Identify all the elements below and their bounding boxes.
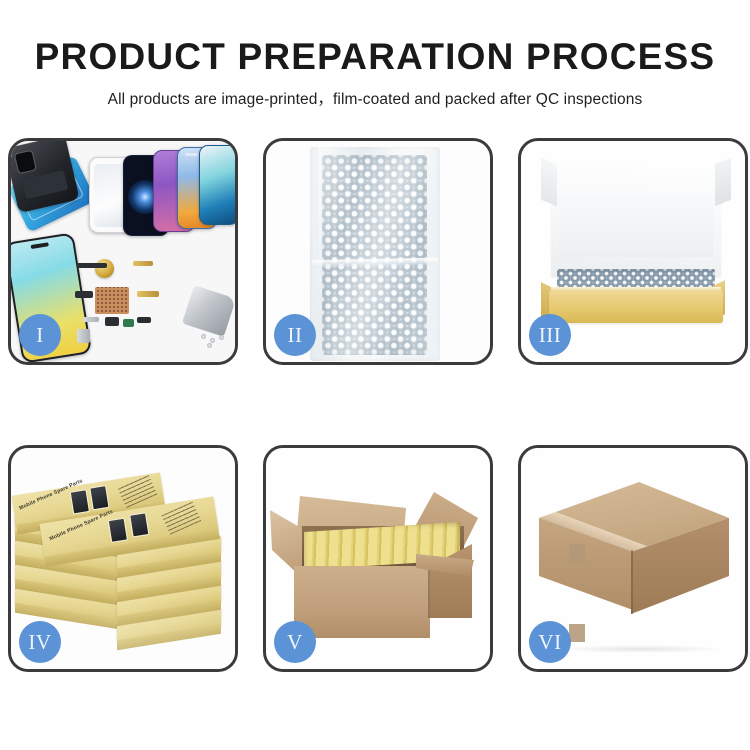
battery-connector-part bbox=[77, 329, 90, 343]
step-badge-4: IV bbox=[19, 621, 61, 663]
box-spec-lines bbox=[161, 501, 201, 535]
process-step-2[interactable]: II bbox=[263, 138, 493, 365]
step-badge-3: III bbox=[529, 314, 571, 356]
box-window-graphic bbox=[89, 485, 109, 510]
metal-bracket-part bbox=[83, 317, 99, 322]
page-title: PRODUCT PREPARATION PROCESS bbox=[0, 0, 750, 78]
box-window-graphic bbox=[108, 518, 128, 543]
camera-module-part bbox=[105, 317, 119, 326]
page-header: PRODUCT PREPARATION PROCESS All products… bbox=[0, 0, 750, 109]
process-step-5[interactable]: V bbox=[263, 445, 493, 672]
gold-connector-part bbox=[133, 261, 153, 266]
step-badge-5: V bbox=[274, 621, 316, 663]
process-step-1[interactable]: I bbox=[8, 138, 238, 365]
carton-tape-tab bbox=[569, 544, 585, 564]
screws-group bbox=[201, 334, 227, 348]
small-pcb-part bbox=[123, 319, 134, 327]
mailer-inner-wall bbox=[559, 193, 713, 257]
bubble-wrap-surface bbox=[322, 155, 427, 355]
carton-tape-tab bbox=[569, 624, 585, 642]
box-window-graphic bbox=[129, 512, 149, 537]
carton-corner-edge bbox=[631, 550, 633, 614]
box-window-graphic bbox=[70, 489, 90, 514]
page-subtitle: All products are image-printed，film-coat… bbox=[0, 78, 750, 109]
process-step-6[interactable]: VI bbox=[518, 445, 748, 672]
process-step-3[interactable]: III bbox=[518, 138, 748, 365]
mailer-front-panel bbox=[549, 291, 723, 323]
vibration-motor-part bbox=[95, 259, 114, 278]
logic-board-chip-part bbox=[95, 287, 129, 314]
speaker-part bbox=[75, 291, 93, 298]
antenna-part bbox=[137, 317, 151, 323]
process-step-4[interactable]: Mobile Phone Spare Parts Mobile Phone Sp… bbox=[8, 445, 238, 672]
teal-phone-part bbox=[199, 145, 235, 225]
carton-front-face bbox=[294, 566, 430, 638]
step-badge-2: II bbox=[274, 314, 316, 356]
gold-flex-part bbox=[137, 291, 159, 297]
step-badge-1: I bbox=[19, 314, 61, 356]
flex-cable-part bbox=[77, 263, 107, 268]
step-badge-6: VI bbox=[529, 621, 571, 663]
carton-ground-shadow bbox=[555, 645, 725, 653]
